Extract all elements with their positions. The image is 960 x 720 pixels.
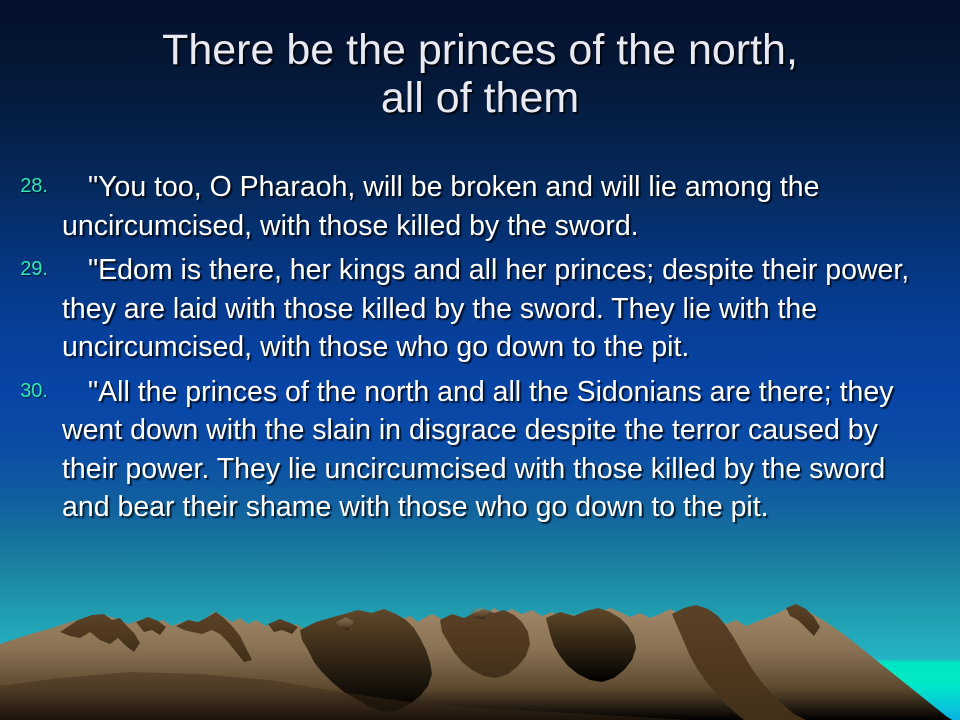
verse-text: "All the princes of the north and all th… (52, 373, 952, 527)
list-item: 30. "All the princes of the north and al… (0, 373, 952, 527)
verse-number: 29. (0, 251, 52, 279)
verse-text: "You too, O Pharaoh, will be broken and … (52, 168, 952, 245)
verse-text: "Edom is there, her kings and all her pr… (52, 251, 952, 367)
mountain-range-silhouette (0, 600, 960, 720)
list-item: 29. "Edom is there, her kings and all he… (0, 251, 952, 367)
presentation-slide: There be the princes of the north, all o… (0, 0, 960, 720)
verse-number: 30. (0, 373, 52, 401)
verse-list: 28. "You too, O Pharaoh, will be broken … (0, 168, 952, 533)
slide-title: There be the princes of the north, all o… (30, 26, 930, 122)
slide-title-line-2: all of them (30, 74, 930, 122)
slide-title-line-1: There be the princes of the north, (30, 26, 930, 74)
verse-number: 28. (0, 168, 52, 196)
list-item: 28. "You too, O Pharaoh, will be broken … (0, 168, 952, 245)
